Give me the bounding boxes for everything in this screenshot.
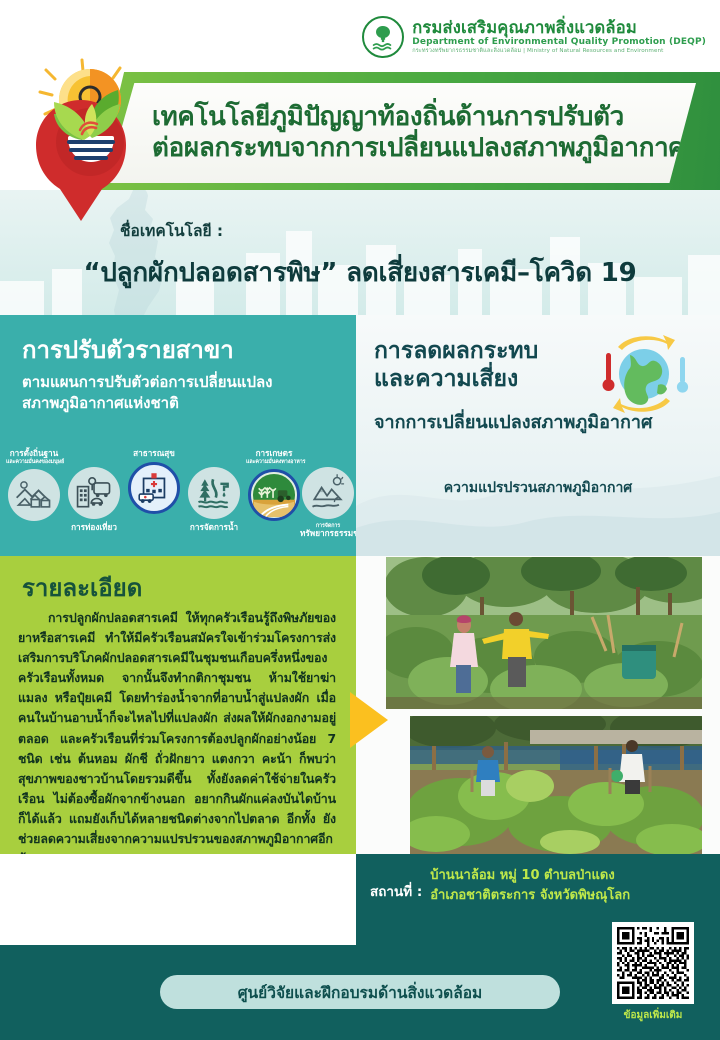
technology-name: “ปลูกผักปลอดสารพิษ” ลดเสี่ยงสารเคมี–โควิ… bbox=[0, 252, 720, 293]
hospital-ambulance-icon bbox=[128, 462, 180, 514]
mitigation-panel: การลดผลกระทบ และความเสี่ยง จากการเปลี่ยน… bbox=[356, 315, 720, 556]
water-river-tap-icon bbox=[188, 467, 240, 519]
location-line1: บ้านนาล้อม หมู่ 10 ตำบลป่าแดง bbox=[430, 866, 630, 886]
adaptation-heading: การปรับตัวรายสาขา bbox=[22, 337, 346, 365]
location-lines: บ้านนาล้อม หมู่ 10 ตำบลป่าแดง อำเภอชาติต… bbox=[430, 866, 630, 905]
sector-item-water-management[interactable]: การจัดการน้ำ bbox=[186, 467, 242, 532]
climate-variability-note: ความแปรปรวนสภาพภูมิอากาศ bbox=[356, 477, 720, 499]
sector-item-natural-resources[interactable]: การจัดการ ทรัพยากรธรรมชาติ bbox=[300, 467, 356, 538]
sector-label-settlements: การตั้งถิ่นฐาน และความมั่นคงของมนุษย์ bbox=[6, 449, 62, 465]
lightbulb-leaf-map-pin-icon bbox=[24, 52, 164, 232]
globe-thermometer-cycle-icon bbox=[590, 331, 698, 417]
title-ribbon: เทคโนโลยีภูมิปัญญาท้องถิ่นด้านการปรับตัว… bbox=[96, 72, 720, 190]
village-houses-icon bbox=[8, 469, 60, 521]
organization-ministry: กระทรวงทรัพยากรธรรมชาติและสิ่งแวดล้อม | … bbox=[412, 49, 706, 55]
agriculture-tractor-field-icon bbox=[248, 469, 300, 521]
sector-item-settlements[interactable]: การตั้งถิ่นฐาน และความมั่นคงของมนุษย์ bbox=[6, 449, 62, 521]
adaptation-panel: การปรับตัวรายสาขา ตามแผนการปรับตัวต่อการ… bbox=[0, 315, 356, 556]
qr-caption: ข้อมูลเพิ่มเติม bbox=[592, 1008, 714, 1023]
location-line2: อำเภอชาติตระการ จังหวัดพิษณุโลก bbox=[430, 886, 630, 906]
play-arrow-icon bbox=[350, 692, 388, 748]
thermometer-hot bbox=[603, 353, 615, 391]
organization-logo: กรมส่งเสริมคุณภาพสิ่งแวดล้อม Department … bbox=[362, 16, 706, 58]
thermometer-cold bbox=[677, 357, 688, 393]
mitigation-heading-line1: การลดผลกระทบ bbox=[374, 337, 538, 365]
sector-item-agriculture[interactable]: การเกษตร และความมั่นคงทางอาหาร bbox=[246, 449, 302, 521]
details-title: รายละเอียด bbox=[22, 568, 142, 607]
sector-item-public-health[interactable]: สาธารณสุข bbox=[126, 449, 182, 514]
location-label: สถานที่ : bbox=[370, 866, 422, 905]
sector-label-agriculture: การเกษตร และความมั่นคงทางอาหาร bbox=[246, 449, 302, 465]
photo-villagers-garden bbox=[386, 557, 702, 709]
sector-label-public-health: สาธารณสุข bbox=[126, 449, 182, 458]
ribbon-white-plate: เทคโนโลยีภูมิปัญญาท้องถิ่นด้านการปรับตัว… bbox=[106, 83, 696, 183]
sector-label-natural-resources: การจัดการ ทรัพยากรธรรมชาติ bbox=[300, 523, 356, 538]
deqp-tree-water-emblem-icon bbox=[362, 16, 404, 58]
location-block: สถานที่ : บ้านนาล้อม หมู่ 10 ตำบลป่าแดง … bbox=[370, 866, 630, 905]
adaptation-subheading-line1: ตามแผนการปรับตัวต่อการเปลี่ยนแปลง bbox=[22, 372, 346, 394]
organization-name-en: Department of Environmental Quality Prom… bbox=[412, 38, 706, 47]
adaptation-subheading-line2: สภาพภูมิอากาศแห่งชาติ bbox=[22, 393, 346, 415]
mitigation-heading: การลดผลกระทบ และความเสี่ยง bbox=[374, 337, 538, 393]
poster-root: กรมส่งเสริมคุณภาพสิ่งแวดล้อม Department … bbox=[0, 0, 720, 1040]
sector-item-tourism[interactable]: การท่องเที่ยว bbox=[66, 467, 122, 532]
natural-resources-mountain-icon bbox=[302, 467, 354, 519]
details-body-text: การปลูกผักปลอดสารเคมี ให้ทุกครัวเรือนรู้… bbox=[18, 608, 336, 869]
footer-left-spacer bbox=[0, 854, 356, 945]
mitigation-heading-line2: และความเสี่ยง bbox=[374, 365, 538, 393]
center-name-pill: ศูนย์วิจัยและฝึกอบรมด้านสิ่งแวดล้อม bbox=[160, 975, 560, 1009]
sector-label-tourism: การท่องเที่ยว bbox=[66, 523, 122, 532]
organization-text: กรมส่งเสริมคุณภาพสิ่งแวดล้อม Department … bbox=[412, 19, 706, 56]
page-title-line2: ต่อผลกระทบจากการเปลี่ยนแปลงสภาพภูมิอากาศ bbox=[152, 133, 696, 164]
center-name-text: ศูนย์วิจัยและฝึกอบรมด้านสิ่งแวดล้อม bbox=[238, 980, 483, 1005]
adaptation-panel-heading: การปรับตัวรายสาขา ตามแผนการปรับตัวต่อการ… bbox=[22, 337, 346, 415]
photo-vegetable-plot bbox=[410, 716, 702, 854]
tourism-city-bus-icon bbox=[68, 467, 120, 519]
qr-code-icon[interactable] bbox=[612, 922, 694, 1004]
organization-name-th: กรมส่งเสริมคุณภาพสิ่งแวดล้อม bbox=[412, 19, 706, 36]
sector-icon-row: การตั้งถิ่นฐาน และความมั่นคงของมนุษย์ bbox=[0, 447, 356, 556]
sector-label-water-management: การจัดการน้ำ bbox=[186, 523, 242, 532]
page-title-line1: เทคโนโลยีภูมิปัญญาท้องถิ่นด้านการปรับตัว bbox=[152, 102, 696, 133]
